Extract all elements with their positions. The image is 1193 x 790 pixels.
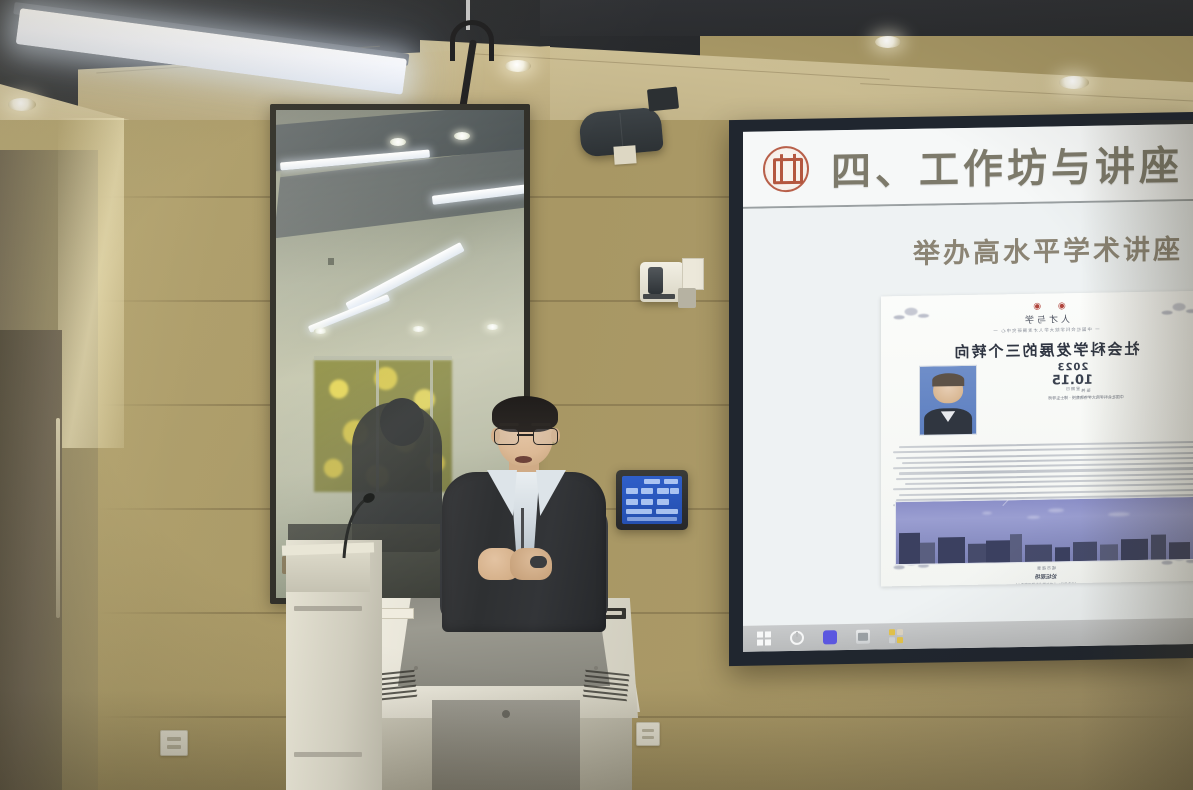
reflection-downlight-icon — [390, 138, 406, 146]
ceiling-dark-panel-right — [540, 0, 1193, 36]
downlight-icon — [8, 98, 36, 111]
touch-panel-button[interactable] — [657, 488, 669, 494]
app-tiles-icon[interactable] — [889, 629, 903, 643]
touch-panel-button[interactable] — [626, 499, 638, 505]
presenter-brow-left — [499, 423, 519, 426]
presenter-brow-right — [531, 423, 551, 426]
touch-panel-button[interactable] — [641, 499, 653, 505]
touch-panel-screen[interactable] — [622, 476, 682, 524]
reflection-wall-box — [328, 258, 334, 265]
touch-panel-bottom-strip — [627, 517, 677, 521]
camera-lens-icon — [648, 267, 663, 294]
cortana-circle-icon[interactable] — [790, 631, 804, 645]
university-seal-icon — [763, 145, 809, 192]
reflected-person-head — [380, 398, 424, 446]
camera-mount-arm — [678, 288, 696, 308]
touch-panel-button[interactable] — [626, 488, 638, 494]
file-explorer-icon[interactable] — [856, 630, 870, 644]
speaker-label-tag — [613, 145, 636, 164]
reflection-downlight-icon — [486, 324, 499, 330]
ceiling-mounted-device — [647, 86, 679, 111]
downlight-icon — [875, 36, 901, 48]
floor-shadow — [0, 690, 1193, 790]
lectern-screw — [414, 666, 418, 670]
touch-panel-button[interactable] — [644, 479, 661, 484]
reflection-downlight-icon — [314, 328, 327, 334]
downlight-icon — [505, 60, 531, 72]
touch-panel-button[interactable] — [656, 509, 679, 515]
glasses-icon — [494, 428, 556, 443]
lectern-brand-label — [378, 608, 414, 619]
blue-app-icon[interactable] — [823, 630, 837, 644]
touch-panel-button[interactable] — [657, 499, 669, 505]
door-handle[interactable] — [56, 418, 60, 618]
touch-panel-button[interactable] — [641, 488, 653, 494]
lectern-screw — [594, 666, 598, 670]
window-head — [314, 356, 452, 360]
presenter-hair — [492, 396, 558, 432]
gooseneck-microphone — [336, 492, 376, 562]
reflection-downlight-icon — [454, 132, 470, 140]
presenter-sleeve-cuff — [530, 556, 547, 568]
reflection-tube-light — [345, 242, 464, 312]
downlight-icon — [1059, 76, 1089, 89]
reflection-downlight-icon — [412, 326, 425, 332]
wall-light-wash — [58, 118, 124, 448]
camera-wall-mount — [682, 258, 704, 290]
presenter-mouth — [515, 456, 532, 463]
touch-panel-button[interactable] — [670, 488, 679, 494]
lecture-hall-photo: 四、工作坊与讲座 举办高水平学术讲座 ◉ ◉ 人才与学 一 中国社会科学院大学人… — [0, 0, 1193, 790]
av-touch-panel[interactable] — [616, 470, 688, 530]
start-icon[interactable] — [757, 631, 771, 645]
touch-panel-button[interactable] — [664, 479, 678, 484]
camera-front-strip — [643, 294, 675, 299]
touch-panel-button[interactable] — [626, 509, 652, 515]
speaker-portrait — [919, 365, 977, 436]
